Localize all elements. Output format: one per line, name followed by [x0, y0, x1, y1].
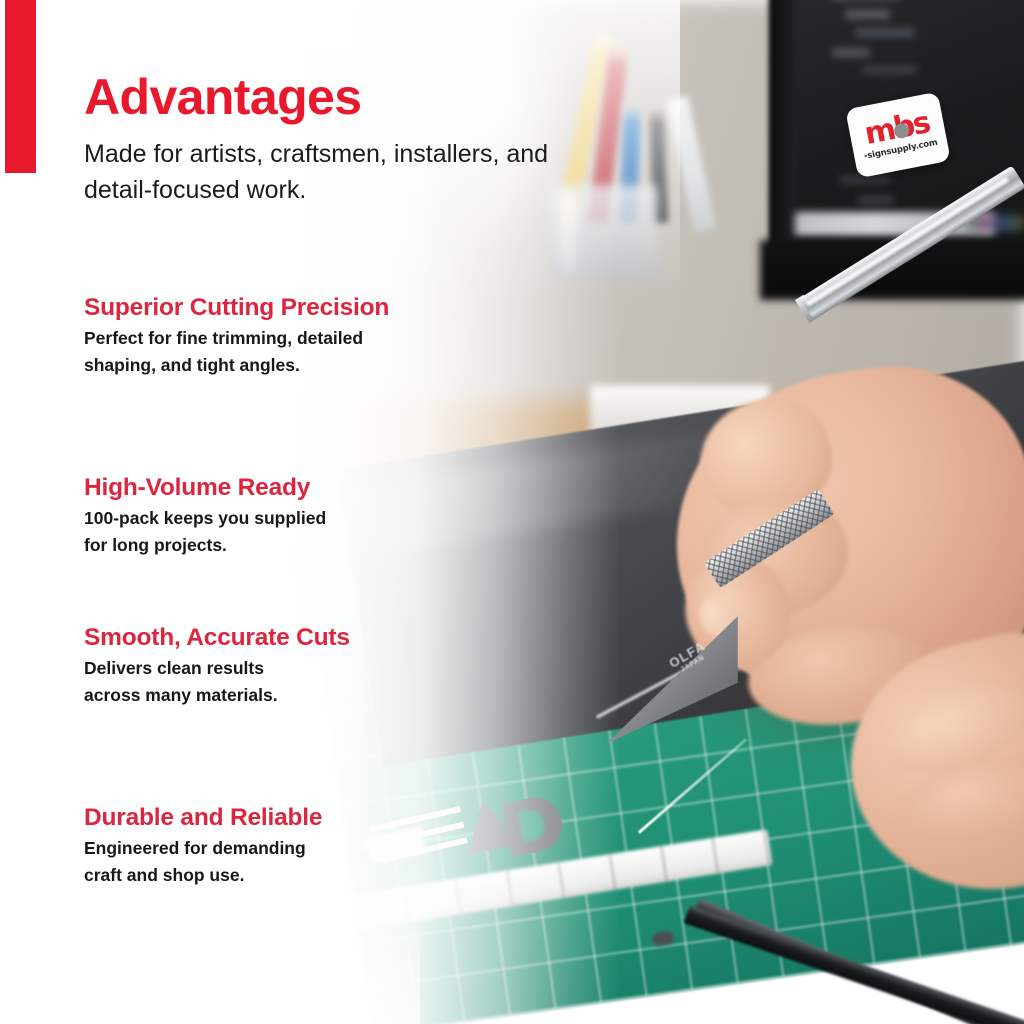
feature-body: Delivers clean results across many mater…	[84, 655, 554, 709]
brand-logo-badge: mbs -signsupply.com	[845, 92, 951, 179]
feature-block-3: Smooth, Accurate Cuts Delivers clean res…	[84, 624, 554, 709]
feature-block-2: High-Volume Ready 100-pack keeps you sup…	[84, 474, 554, 559]
red-accent-bar	[5, 0, 36, 173]
feature-body: 100-pack keeps you supplied for long pro…	[84, 505, 554, 559]
page-title: Advantages	[84, 72, 361, 122]
feature-heading: Durable and Reliable	[84, 804, 554, 832]
feature-heading: Superior Cutting Precision	[84, 294, 554, 322]
feature-body: Perfect for fine trimming, detailed shap…	[84, 325, 554, 379]
feature-heading: High-Volume Ready	[84, 474, 554, 502]
advantages-infographic: OLFAJAPAN Advantages Made for artists, c…	[0, 0, 1024, 1024]
feature-heading: Smooth, Accurate Cuts	[84, 624, 554, 652]
content-layer: Advantages Made for artists, craftsmen, …	[0, 0, 1024, 1024]
feature-block-1: Superior Cutting Precision Perfect for f…	[84, 294, 554, 379]
feature-body: Engineered for demanding craft and shop …	[84, 835, 554, 889]
feature-block-4: Durable and Reliable Engineered for dema…	[84, 804, 554, 889]
page-subtitle: Made for artists, craftsmen, installers,…	[84, 137, 604, 208]
